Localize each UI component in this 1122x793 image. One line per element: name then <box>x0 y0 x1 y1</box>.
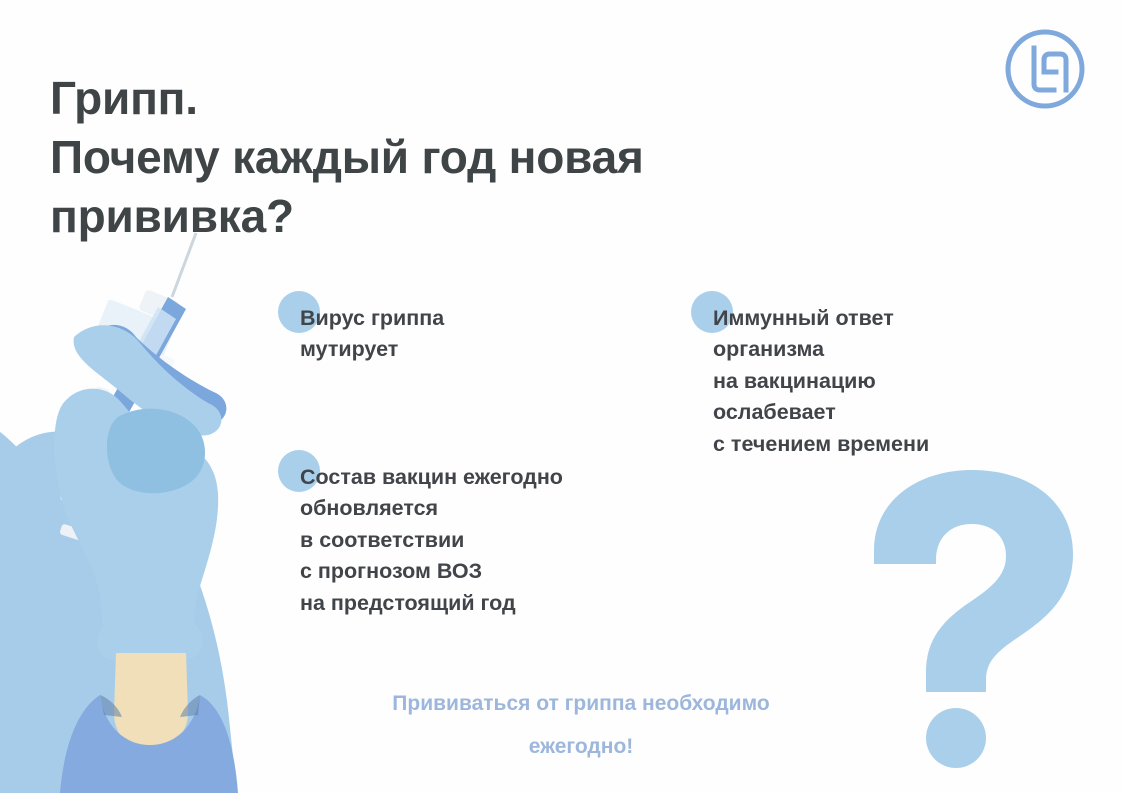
footer-callout: Прививаться от гриппа необходимо ежегодн… <box>231 682 931 768</box>
bullet-line: Вирус гриппа <box>300 303 444 334</box>
bullet-virus-mutates: Вирус гриппа мутирует <box>300 303 444 366</box>
footer-line: ежегодно! <box>231 725 931 768</box>
bullet-line: организма <box>713 334 929 365</box>
forearm-skin <box>114 653 188 751</box>
bullet-line: Состав вакцин ежегодно <box>300 462 563 493</box>
bullet-text: Иммунный ответ организма на вакцинацию о… <box>713 303 929 460</box>
bullet-text: Вирус гриппа мутирует <box>300 303 444 366</box>
bullet-line: на предстоящий год <box>300 588 563 619</box>
bullet-line: с прогнозом ВОЗ <box>300 556 563 587</box>
bullet-vaccine-composition: Состав вакцин ежегодно обновляется в соо… <box>300 462 563 619</box>
circular-monogram-logo <box>1004 28 1086 110</box>
bullet-immune-response: Иммунный ответ организма на вакцинацию о… <box>713 303 929 460</box>
bullet-line: ослабевает <box>713 397 929 428</box>
syringe-needle <box>172 233 196 297</box>
bullet-line: на вакцинацию <box>713 366 929 397</box>
bullet-text: Состав вакцин ежегодно обновляется в соо… <box>300 462 563 619</box>
bullet-line: Иммунный ответ <box>713 303 929 334</box>
bullet-line: с течением времени <box>713 429 929 460</box>
footer-line: Прививаться от гриппа необходимо <box>231 682 931 725</box>
question-mark-dot <box>926 708 986 768</box>
bullet-line: в соответствии <box>300 525 563 556</box>
question-mark-hook <box>874 470 1073 692</box>
page-title: Грипп. Почему каждый год новая прививка? <box>50 69 950 246</box>
title-line-1: Грипп. <box>50 69 950 128</box>
bullet-line: обновляется <box>300 493 563 524</box>
title-line-2: Почему каждый год новая <box>50 128 950 187</box>
infographic-slide: Грипп. Почему каждый год новая прививка? <box>0 0 1122 793</box>
bullet-line: мутирует <box>300 334 444 365</box>
